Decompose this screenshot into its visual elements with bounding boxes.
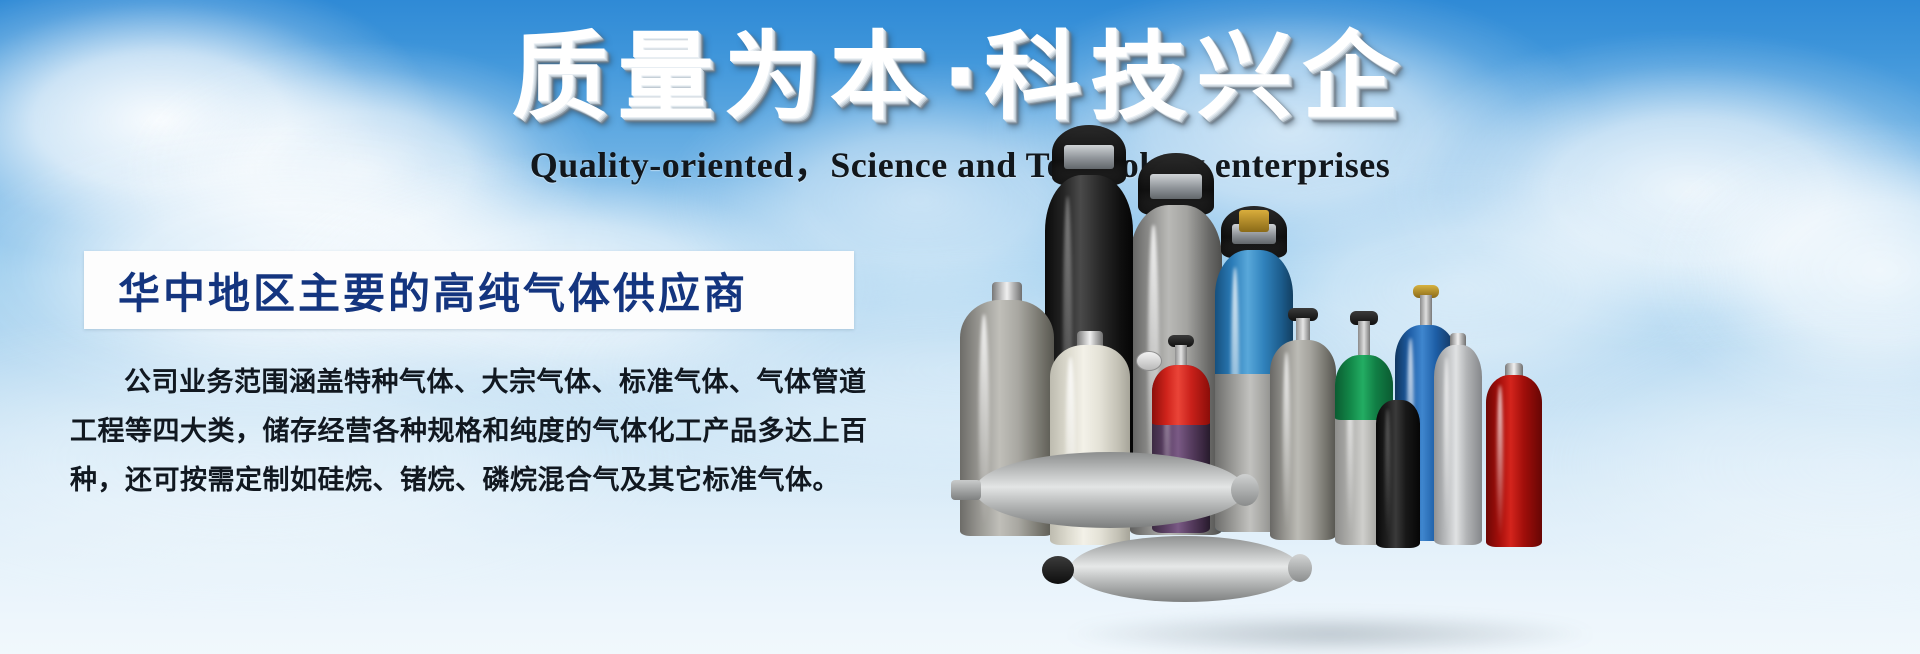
- headline-left: 质量为本: [512, 21, 936, 133]
- cylinder-highlight: [1385, 409, 1390, 542]
- black-slim-cylinder: [1376, 400, 1420, 548]
- brass-valve-icon: [1239, 210, 1269, 232]
- paragraph-line: 公司业务范围涵盖特种气体、大宗气体、标准气体、气体管道: [70, 358, 860, 407]
- paragraph-line: 工程等四大类，储存经营各种规格和纯度的气体化工产品多达上百: [70, 407, 860, 456]
- paragraph-line: 种，还可按需定制如硅烷、锗烷、磷烷混合气及其它标准气体。: [70, 456, 860, 505]
- cylinder-body: [1270, 340, 1336, 540]
- ground-shadow: [960, 604, 1700, 654]
- cylinder-highlight: [1283, 352, 1290, 532]
- slogan-box: 华中地区主要的高纯气体供应商: [84, 251, 854, 329]
- grey-valve-cylinder: [1270, 340, 1336, 540]
- valve-stem: [1420, 295, 1432, 327]
- gas-cylinder-group: [940, 0, 1920, 654]
- hero-banner: 质量为本·科技兴企 Quality-oriented，Science and T…: [0, 0, 1920, 654]
- cylinder-end-cap: [1288, 554, 1312, 582]
- valve-stem: [1358, 321, 1370, 357]
- cylinder-valve-knob-icon: [1042, 556, 1074, 584]
- aluminium-cylinder: [1434, 345, 1482, 545]
- banner-paragraph: 公司业务范围涵盖特种气体、大宗气体、标准气体、气体管道 工程等四大类，储存经营各…: [70, 358, 860, 505]
- cylinder-red-shoulder: [1152, 365, 1210, 425]
- cylinder-body: [1376, 400, 1420, 548]
- cylinder-highlight: [1444, 357, 1449, 537]
- cylinder-end-cap: [1231, 474, 1259, 506]
- lying-grey-cylinder: [975, 452, 1245, 528]
- slogan-text: 华中地区主要的高纯气体供应商: [84, 260, 748, 321]
- cylinder-body: [1486, 375, 1542, 547]
- red-cylinder: [1486, 375, 1542, 547]
- pressure-gauge-icon: [1136, 351, 1162, 371]
- lying-small-cylinder: [1070, 536, 1300, 602]
- cylinder-body: [1070, 536, 1300, 602]
- cylinder-body: [975, 452, 1245, 528]
- cylinder-valve-icon: [951, 480, 981, 500]
- cylinder-highlight: [1497, 385, 1503, 540]
- cylinder-body: [1434, 345, 1482, 545]
